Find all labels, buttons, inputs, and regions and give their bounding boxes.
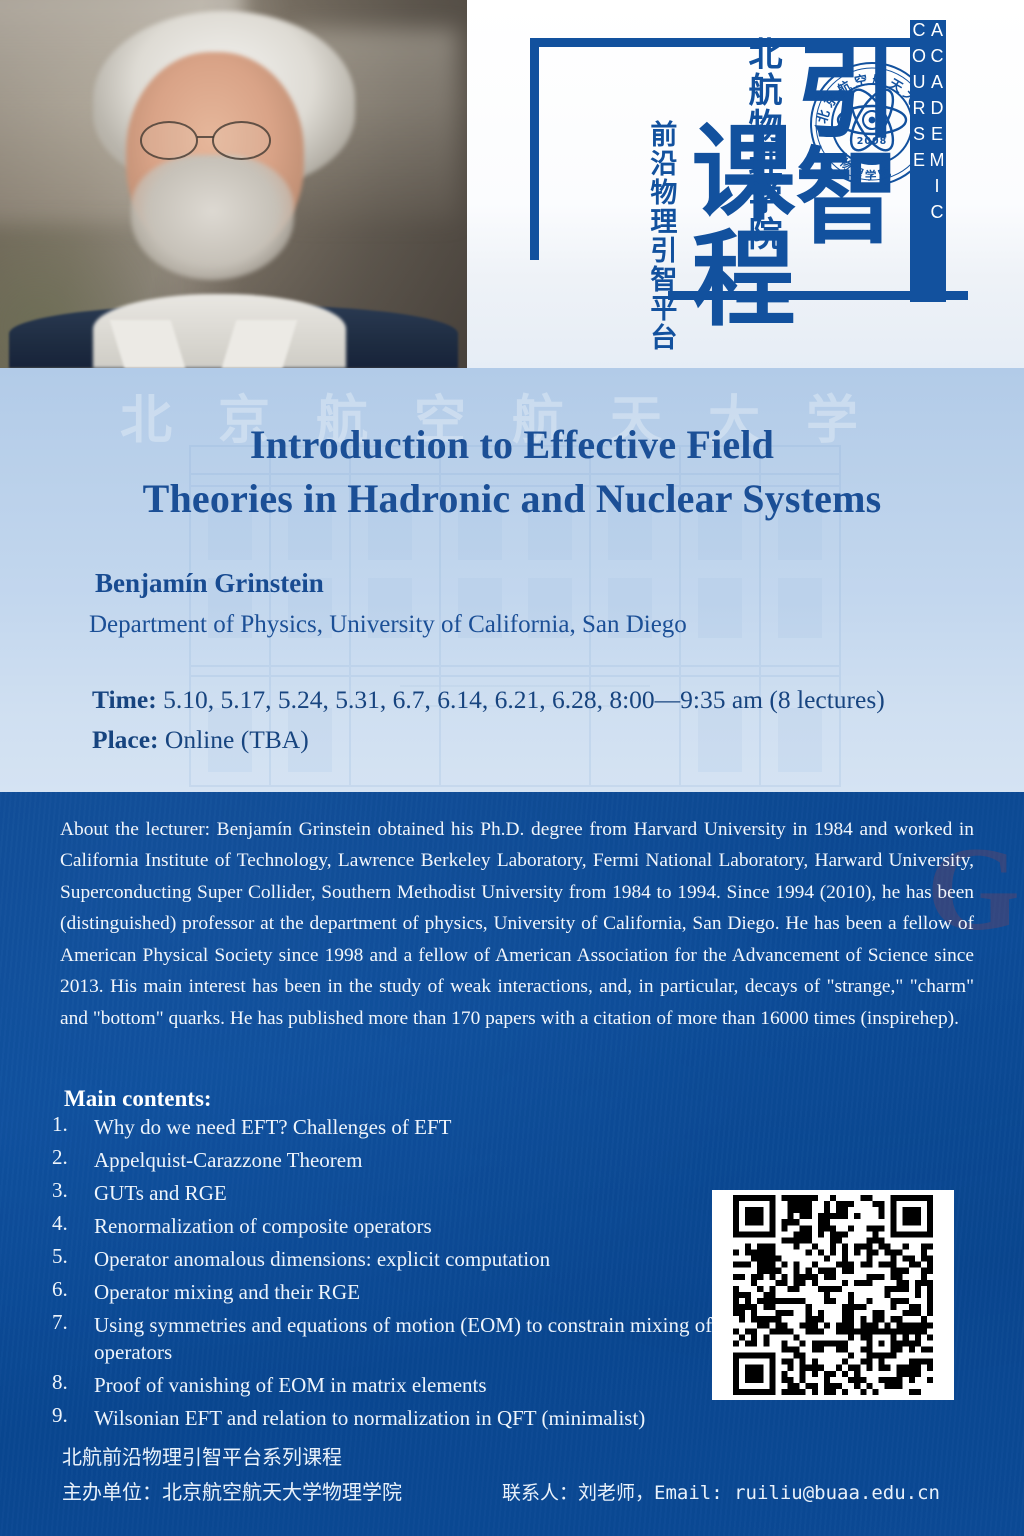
place-label: Place: xyxy=(92,725,159,754)
logo-frame-left-bar xyxy=(530,38,539,260)
list-item-number: 9. xyxy=(52,1405,94,1433)
college-vertical-label: 北航物理学院 xyxy=(744,36,779,252)
list-item-text: GUTs and RGE xyxy=(94,1180,752,1208)
list-item: 7.Using symmetries and equations of moti… xyxy=(52,1312,752,1368)
list-item: 2.Appelquist-Carazzone Theorem xyxy=(52,1147,752,1175)
eyeglasses-right-lens xyxy=(212,121,270,160)
platform-vertical-label: 前沿物理引智平台 xyxy=(646,120,674,352)
poster-root: 前沿物理引智平台 课程 引智 北航物理学院 xyxy=(0,0,1024,1536)
list-item-text: Wilsonian EFT and relation to normalizat… xyxy=(94,1405,752,1433)
place-value: Online (TBA) xyxy=(165,725,309,754)
list-item: 1.Why do we need EFT? Challenges of EFT xyxy=(52,1114,752,1142)
list-item-number: 1. xyxy=(52,1114,94,1142)
list-item-text: Proof of vanishing of EOM in matrix elem… xyxy=(94,1372,752,1400)
list-item: 5.Operator anomalous dimensions: explici… xyxy=(52,1246,752,1274)
list-item-text: Appelquist-Carazzone Theorem xyxy=(94,1147,752,1175)
academic-course-label: ACADEMIC COURSE xyxy=(910,20,946,302)
list-item: 3.GUTs and RGE xyxy=(52,1180,752,1208)
list-item-text: Renormalization of composite operators xyxy=(94,1213,752,1241)
course-info-section: 北京航空航天大学 xyxy=(0,368,1024,792)
list-item-text: Operator anomalous dimensions: explicit … xyxy=(94,1246,752,1274)
brand-logo-block: 前沿物理引智平台 课程 引智 北航物理学院 xyxy=(486,0,1024,368)
list-item: 6.Operator mixing and their RGE xyxy=(52,1279,752,1307)
qr-code[interactable] xyxy=(712,1190,954,1400)
place-row: Place: Online (TBA) xyxy=(92,725,309,755)
list-item-number: 8. xyxy=(52,1372,94,1400)
title-line-2: Theories in Hadronic and Nuclear Systems xyxy=(0,472,1024,526)
list-item-number: 7. xyxy=(52,1312,94,1368)
list-item-number: 6. xyxy=(52,1279,94,1307)
list-item-text: Using symmetries and equations of motion… xyxy=(94,1312,752,1368)
contact-email: Email: ruiliu@buaa.edu.cn xyxy=(654,1482,940,1504)
speaker-name: Benjamín Grinstein xyxy=(95,568,324,599)
poster-header: 前沿物理引智平台 课程 引智 北航物理学院 xyxy=(0,0,1024,370)
footer-series-line: 北航前沿物理引智平台系列课程 xyxy=(62,1441,342,1470)
qr-code-matrix xyxy=(717,1195,949,1395)
footer-organizer-line: 主办单位：北京航空航天大学物理学院 xyxy=(62,1476,402,1505)
list-item: 9.Wilsonian EFT and relation to normaliz… xyxy=(52,1405,752,1433)
lecturer-bio: About the lecturer: Benjamín Grinstein o… xyxy=(60,814,974,1034)
list-item-number: 4. xyxy=(52,1213,94,1241)
list-item-number: 5. xyxy=(52,1246,94,1274)
list-item: 4.Renormalization of composite operators xyxy=(52,1213,752,1241)
time-value: 5.10, 5.17, 5.24, 5.31, 6.7, 6.14, 6.21,… xyxy=(163,685,885,714)
time-row: Time: 5.10, 5.17, 5.24, 5.31, 6.7, 6.14,… xyxy=(92,685,885,715)
footer-contact-line: 联系人：刘老师，Email: ruiliu@buaa.edu.cn xyxy=(502,1478,940,1505)
list-item-number: 2. xyxy=(52,1147,94,1175)
title-line-1: Introduction to Effective Field xyxy=(0,418,1024,472)
main-contents-list: 1.Why do we need EFT? Challenges of EFT2… xyxy=(52,1114,752,1438)
lecturer-photo xyxy=(0,0,467,368)
eyeglasses-bridge xyxy=(197,136,214,138)
list-item: 8.Proof of vanishing of EOM in matrix el… xyxy=(52,1372,752,1400)
page-title: Introduction to Effective Field Theories… xyxy=(0,418,1024,525)
time-label: Time: xyxy=(92,685,157,714)
photo-beard xyxy=(131,155,294,280)
list-item-text: Operator mixing and their RGE xyxy=(94,1279,752,1307)
contact-person: 联系人：刘老师， xyxy=(502,1482,654,1504)
list-item-number: 3. xyxy=(52,1180,94,1208)
svg-text:2008: 2008 xyxy=(857,136,887,147)
academic-course-banner: ACADEMIC COURSE xyxy=(910,20,946,302)
list-item-text: Why do we need EFT? Challenges of EFT xyxy=(94,1114,752,1142)
speaker-affiliation: Department of Physics, University of Cal… xyxy=(89,611,687,639)
main-contents-heading: Main contents: xyxy=(64,1086,212,1112)
